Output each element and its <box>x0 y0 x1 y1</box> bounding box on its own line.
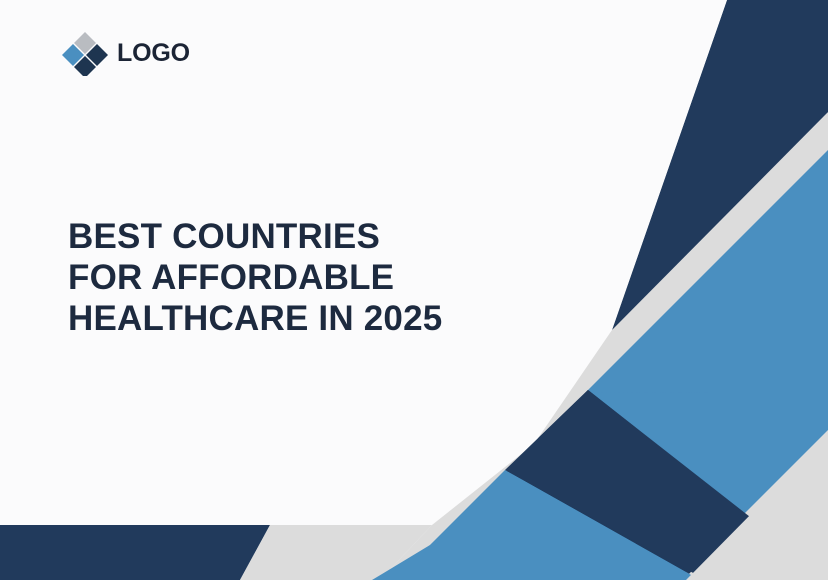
navy-descending-band <box>612 0 828 330</box>
gray-ascending-band-corner <box>670 430 828 580</box>
gray-wedge-left-flank <box>380 444 534 580</box>
gray-band-upper-diagonal <box>150 115 828 580</box>
blue-wedge-left-of-navy <box>430 392 585 580</box>
navy-ascending-band-top <box>505 391 828 580</box>
blue-triangle-bottom <box>380 470 700 580</box>
gray-strip-bottom-left <box>243 525 430 580</box>
gray-wedge-under-navy <box>534 115 828 444</box>
page-title: BEST COUNTRIES FOR AFFORDABLE HEALTHCARE… <box>68 216 498 339</box>
slide-canvas: LOGO BEST COUNTRIES FOR AFFORDABLE HEALT… <box>0 0 828 580</box>
page-title-line-3: HEALTHCARE IN 2025 <box>68 298 498 339</box>
gray-bottom-right-sliver <box>683 433 828 580</box>
logo[interactable]: LOGO <box>62 30 190 76</box>
gray-corner-topmost <box>686 436 828 580</box>
gray-descending-band <box>263 112 828 580</box>
navy-crossing-band-front <box>505 390 828 580</box>
blue-band-above-navy <box>586 150 828 391</box>
navy-band-top-right <box>612 0 828 331</box>
gray-bottom-strip <box>240 525 432 580</box>
navy-crossing-band-topmost <box>505 390 828 580</box>
gray-ascending-corner-fill <box>678 430 828 580</box>
navy-ascending-band <box>505 392 828 580</box>
blue-main-field <box>390 150 828 580</box>
blue-band-upper-right <box>586 149 828 393</box>
diamond-logo-icon <box>62 30 108 76</box>
gray-band-guide <box>150 115 828 580</box>
page-title-line-1: BEST COUNTRIES <box>68 216 498 257</box>
blue-triangle-front <box>372 470 700 580</box>
gray-ascending-corner <box>703 275 828 577</box>
navy-bottom-bar <box>0 525 270 580</box>
title-block: BEST COUNTRIES FOR AFFORDABLE HEALTHCARE… <box>68 216 498 339</box>
page-title-line-2: FOR AFFORDABLE <box>68 257 498 298</box>
navy-bar-bottom-left <box>0 525 272 580</box>
blue-ascending-upper <box>588 152 828 393</box>
blue-triangle-bottom-center <box>380 472 700 580</box>
logo-text: LOGO <box>117 41 190 66</box>
navy-crossing-band <box>505 390 828 580</box>
gray-corner-bottom-right <box>693 430 828 580</box>
gray-descending-band-lower <box>263 444 534 580</box>
blue-field-lower-right <box>400 150 828 580</box>
blue-ascending-band <box>520 272 828 580</box>
